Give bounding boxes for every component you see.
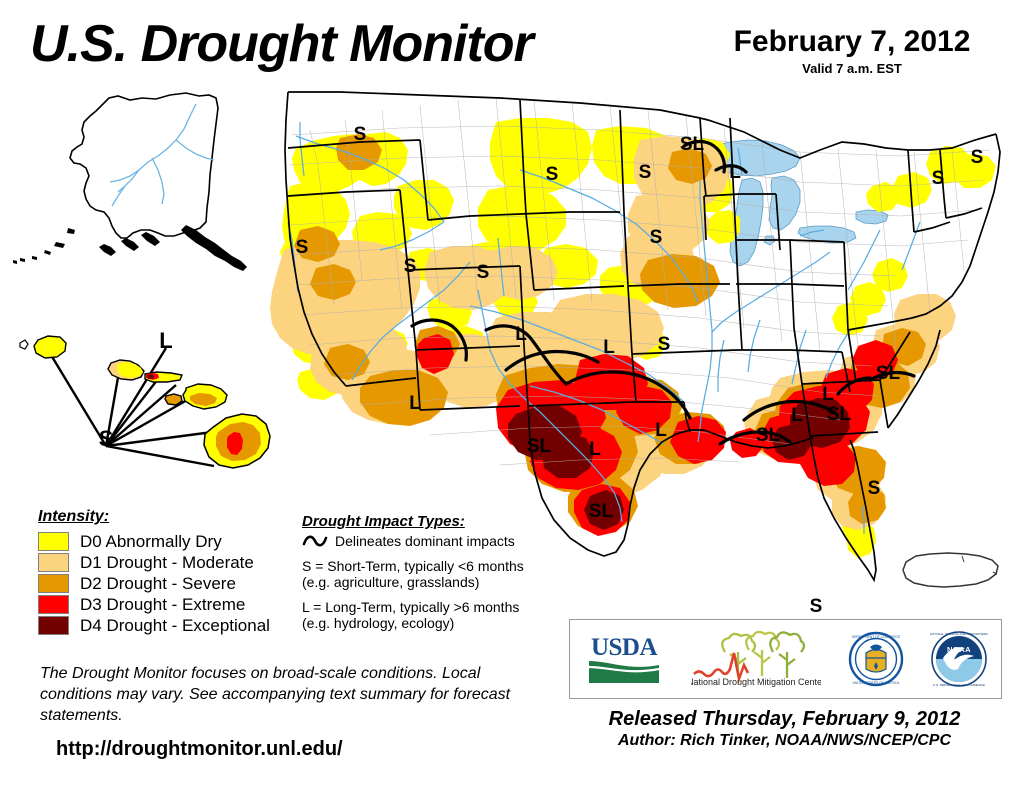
impact-label-s-11: S: [658, 334, 671, 355]
island-lanai: [165, 394, 182, 405]
legend-swatch-d3: [38, 595, 69, 614]
noaa-logo: NOAA NATIONAL OCEANIC AND ATMOSPHERIC U.…: [930, 630, 988, 688]
svg-text:U.S. DEPARTMENT OF COMMERCE: U.S. DEPARTMENT OF COMMERCE: [933, 683, 985, 687]
intensity-legend: Intensity: D0 Abnormally DryD1 Drought -…: [38, 508, 270, 636]
island-kauai: [34, 336, 66, 358]
delineation-legend-row: Delineates dominant impacts: [302, 533, 562, 549]
impact-label-s-7: S: [296, 237, 309, 258]
legend-row-d1: D1 Drought - Moderate: [38, 552, 270, 573]
impact-label-s-10: S: [650, 227, 663, 248]
legend-label-d4: D4 Drought - Exceptional: [80, 616, 270, 636]
legend-label-d0: D0 Abnormally Dry: [80, 532, 222, 552]
impact-label-l-20: L: [791, 405, 803, 426]
legend-swatch-d2: [38, 574, 69, 593]
impact-label-sl-23: SL: [876, 363, 901, 384]
usdc-seal: DEPARTMENT OF COMMERCE UNITED STATES OF …: [848, 631, 904, 687]
impact-legend: Drought Impact Types: Delineates dominan…: [302, 513, 562, 640]
short-term-definition: S = Short-Term, typically <6 months (e.g…: [302, 558, 562, 590]
delineation-legend-label: Delineates dominant impacts: [335, 533, 515, 549]
impact-label-sl-18: SL: [589, 501, 614, 522]
noaa-logo-icon: NOAA NATIONAL OCEANIC AND ATMOSPHERIC U.…: [930, 630, 988, 688]
impact-label-l-17: L: [589, 439, 601, 460]
legend-swatch-d1: [38, 553, 69, 572]
usda-logo: USDA: [583, 631, 665, 687]
impact-label-sl-19: SL: [756, 425, 781, 446]
hawaii-inset: [20, 336, 270, 468]
long-term-line2: (e.g. hydrology, ecology): [302, 615, 454, 631]
usda-logo-icon: USDA: [583, 631, 665, 687]
impact-label-s-0: S: [354, 124, 367, 145]
impact-label-s-8: S: [404, 256, 417, 277]
impact-label-s-6: S: [971, 147, 984, 168]
impact-label-s-24: S: [868, 478, 881, 499]
legend-label-d3: D3 Drought - Extreme: [80, 595, 245, 615]
legend-row-d0: D0 Abnormally Dry: [38, 531, 270, 552]
squiggle-icon: [302, 533, 328, 549]
svg-text:DEPARTMENT OF COMMERCE: DEPARTMENT OF COMMERCE: [851, 635, 900, 639]
inset-impact-label-s-0: S: [99, 426, 114, 451]
legend-row-d3: D3 Drought - Extreme: [38, 594, 270, 615]
legend-swatch-d0: [38, 532, 69, 551]
legend-row-d2: D2 Drought - Severe: [38, 573, 270, 594]
impact-label-l-12: L: [515, 324, 527, 345]
svg-text:National Drought Mitigatio: National Drought Mitigation Center: [691, 677, 821, 687]
impact-label-l-4: L: [729, 162, 741, 183]
short-term-line2: (e.g. agriculture, grasslands): [302, 574, 479, 590]
impact-label-sl-22: SL: [827, 404, 852, 425]
disclaimer-text: The Drought Monitor focuses on broad-sca…: [40, 663, 540, 726]
svg-text:NOAA: NOAA: [947, 645, 971, 654]
intensity-legend-rows: D0 Abnormally DryD1 Drought - ModerateD2…: [38, 531, 270, 636]
release-date: Released Thursday, February 9, 2012: [569, 708, 1000, 731]
impact-label-s-9: S: [477, 262, 490, 283]
ndmc-logo-icon: National Drought Mitigation Center: [691, 630, 821, 688]
island-niihau: [20, 340, 28, 349]
long-term-line1: L = Long-Term, typically >6 months: [302, 599, 519, 615]
impact-legend-heading: Drought Impact Types:: [302, 513, 562, 530]
svg-text:NATIONAL OCEANIC AND ATMOSPHER: NATIONAL OCEANIC AND ATMOSPHERIC: [930, 632, 988, 636]
impact-label-s-2: S: [639, 162, 652, 183]
legend-label-d1: D1 Drought - Moderate: [80, 553, 254, 573]
legend-swatch-d4: [38, 616, 69, 635]
alaska-inset: [13, 93, 247, 271]
impact-label-l-21: L: [822, 384, 834, 405]
puerto-rico-inset: [903, 553, 998, 587]
impact-label-sl-16: SL: [527, 436, 552, 457]
impact-label-s-1: S: [546, 164, 559, 185]
impact-label-s-25: S: [810, 596, 823, 617]
puerto-rico-outline: [903, 553, 998, 587]
website-url[interactable]: http://droughtmonitor.unl.edu/: [56, 738, 343, 761]
impact-label-l-15: L: [655, 420, 667, 441]
impact-label-sl-3: SL: [680, 134, 705, 155]
impact-label-l-14: L: [409, 393, 421, 414]
intensity-legend-heading: Intensity:: [38, 508, 270, 526]
aleutian-islands: [13, 228, 75, 264]
svg-text:UNITED STATES OF AMERICA: UNITED STATES OF AMERICA: [852, 681, 900, 685]
legend-row-d4: D4 Drought - Exceptional: [38, 615, 270, 636]
ndmc-logo: National Drought Mitigation Center: [691, 630, 821, 688]
sponsor-logo-panel: USDA: [569, 619, 1002, 699]
short-term-line1: S = Short-Term, typically <6 months: [302, 558, 524, 574]
drought-monitor-poster: U.S. Drought Monitor February 7, 2012 Va…: [0, 0, 1024, 791]
usdc-seal-icon: DEPARTMENT OF COMMERCE UNITED STATES OF …: [848, 631, 904, 687]
svg-text:USDA: USDA: [591, 634, 658, 661]
impact-label-l-13: L: [603, 337, 615, 358]
inset-impact-label-l-1: L: [159, 328, 172, 353]
release-author: Author: Rich Tinker, NOAA/NWS/NCEP/CPC: [569, 732, 1000, 750]
long-term-definition: L = Long-Term, typically >6 months (e.g.…: [302, 599, 562, 631]
legend-label-d2: D2 Drought - Severe: [80, 574, 236, 594]
inset-impact-labels: SL: [99, 328, 173, 451]
impact-label-s-5: S: [932, 168, 945, 189]
